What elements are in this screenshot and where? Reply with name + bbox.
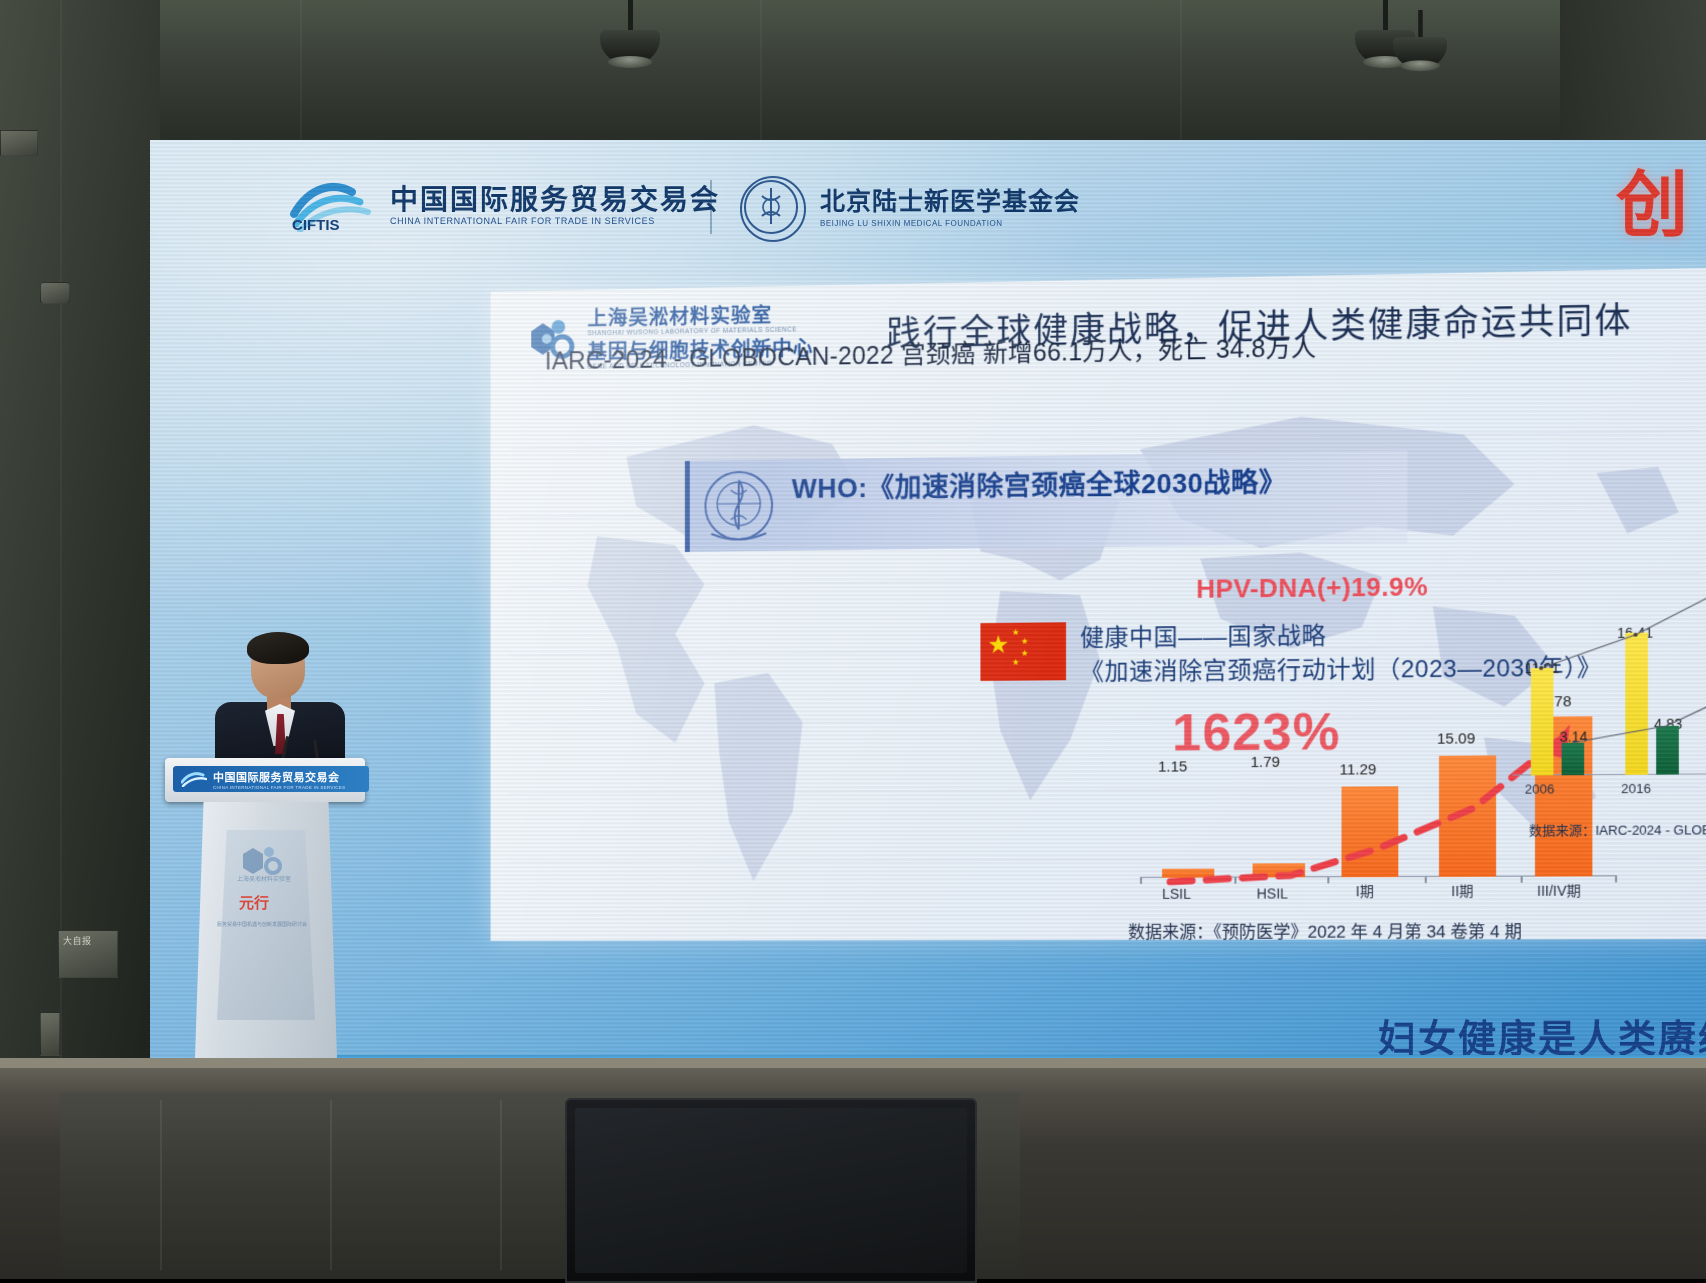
led-screen: CIFTIS 中国国际服务贸易交易会 CHINA INTERNATIONAL F… (150, 140, 1706, 1058)
wall-fixture (0, 130, 38, 156)
wall-sign: 大自报 (58, 930, 118, 978)
podium-top: 中国国际服务贸易交易会 CHINA INTERNATIONAL FAIR FOR… (165, 758, 365, 802)
left-wall (0, 0, 160, 1060)
wall-seam (300, 0, 302, 140)
chart-source-bottom: 数据来源：《预防医学》2022 年 4 月第 34 卷第 4 期 (1128, 917, 1522, 941)
stage-panel-seam (330, 1100, 482, 1270)
ciftis-logo: CIFTIS 中国国际服务贸易交易会 CHINA INTERNATIONAL F… (290, 180, 720, 232)
podium: 中国国际服务贸易交易会 CHINA INTERNATIONAL FAIR FOR… (165, 758, 365, 1058)
wall-seam (760, 0, 762, 140)
stage-panel-seam (160, 1100, 312, 1270)
who-banner: WHO:《加速消除宫颈癌全球2030战略》 (685, 450, 1408, 552)
foundation-mark-icon (740, 176, 806, 242)
svg-text:CIFTIS: CIFTIS (292, 217, 340, 232)
speaker-hair (247, 632, 309, 664)
ciftis-title-en: CHINA INTERNATIONAL FAIR FOR TRADE IN SE… (390, 217, 720, 226)
hpv-dna-note: HPV-DNA(+)19.9% (1196, 571, 1428, 605)
back-wall (0, 0, 1706, 150)
china-strategy-line1: 健康中国——国家战略 (1080, 616, 1326, 654)
x-axis-label: III/IV期 (1537, 881, 1581, 901)
podium-lab-logo-icon: 上海吴淞材料实验室 (237, 842, 293, 882)
podium-banner: 中国国际服务贸易交易会 CHINA INTERNATIONAL FAIR FOR… (173, 766, 369, 792)
conference-hall-scene: 大自报 CIFTIS 中国国际服务贸易交易会 CHINA INTERNATION… (0, 0, 1706, 1279)
wall-seam (1180, 0, 1182, 140)
foreground-monitor (565, 1098, 977, 1283)
lab-name-cn: 上海吴淞材料实验室 (587, 305, 813, 329)
podium-red-mark: 元行 (227, 892, 303, 912)
foundation-title-en: BEIJING LU SHIXIN MEDICAL FOUNDATION (820, 220, 1080, 229)
who-headline: WHO:《加速消除宫颈癌全球2030战略》 (792, 460, 1287, 506)
security-camera-icon (40, 282, 70, 304)
podium-plaque-text: 上海吴淞材料实验室 (237, 875, 291, 882)
stage-edge (0, 1058, 1706, 1068)
foundation-title-cn: 北京陆士新医学基金会 (820, 189, 1080, 217)
speaker-person (215, 636, 345, 771)
x-axis-label: LSIL (1162, 886, 1191, 902)
monitor-screen (575, 1108, 967, 1273)
global-burden-chart: 11.01 3.14 16.41 4.83 23.22 9.13 2006 (1512, 590, 1706, 796)
wall-sign-label: 大自报 (59, 931, 117, 950)
ciftis-mark-icon: CIFTIS (290, 180, 376, 232)
x-axis-label: I期 (1356, 881, 1374, 901)
podium-banner-en: CHINA INTERNATIONAL FAIR FOR TRADE IN SE… (213, 785, 345, 790)
who-emblem-icon (698, 464, 780, 548)
x-axis-label: 2016 (1621, 781, 1651, 796)
foundation-logo: 北京陆士新医学基金会 BEIJING LU SHIXIN MEDICAL FOU… (740, 176, 1080, 242)
china-flag-icon (980, 622, 1066, 681)
podium-subtitle-text: 服务贸易中国机遇与创新发展国际研讨会 (217, 921, 307, 928)
podium-red-text: 元行 (239, 894, 269, 912)
ciftis-mark-icon (181, 771, 207, 787)
corner-character: 创 (1616, 146, 1688, 251)
lab-name-en: SHANGHAI WUSONG LABORATORY OF MATERIALS … (587, 327, 813, 338)
presentation-slide: 上海吴淞材料实验室 SHANGHAI WUSONG LABORATORY OF … (491, 268, 1706, 941)
podium-subtitle: 服务贸易中国机遇与创新发展国际研讨会 (217, 916, 313, 930)
podium-banner-cn: 中国国际服务贸易交易会 (213, 769, 345, 785)
chart-source-top: 数据来源：IARC-2024 - GLOB图 (1529, 819, 1706, 839)
x-axis-label: HSIL (1257, 885, 1288, 901)
wall-fixture (40, 1012, 60, 1056)
ciftis-title-cn: 中国国际服务贸易交易会 (390, 185, 720, 214)
wall-seam (60, 0, 62, 1060)
x-axis-label: II期 (1451, 881, 1473, 901)
x-axis-label: 2006 (1525, 781, 1555, 796)
banner-divider (710, 180, 712, 234)
trend-lines (1512, 590, 1706, 796)
